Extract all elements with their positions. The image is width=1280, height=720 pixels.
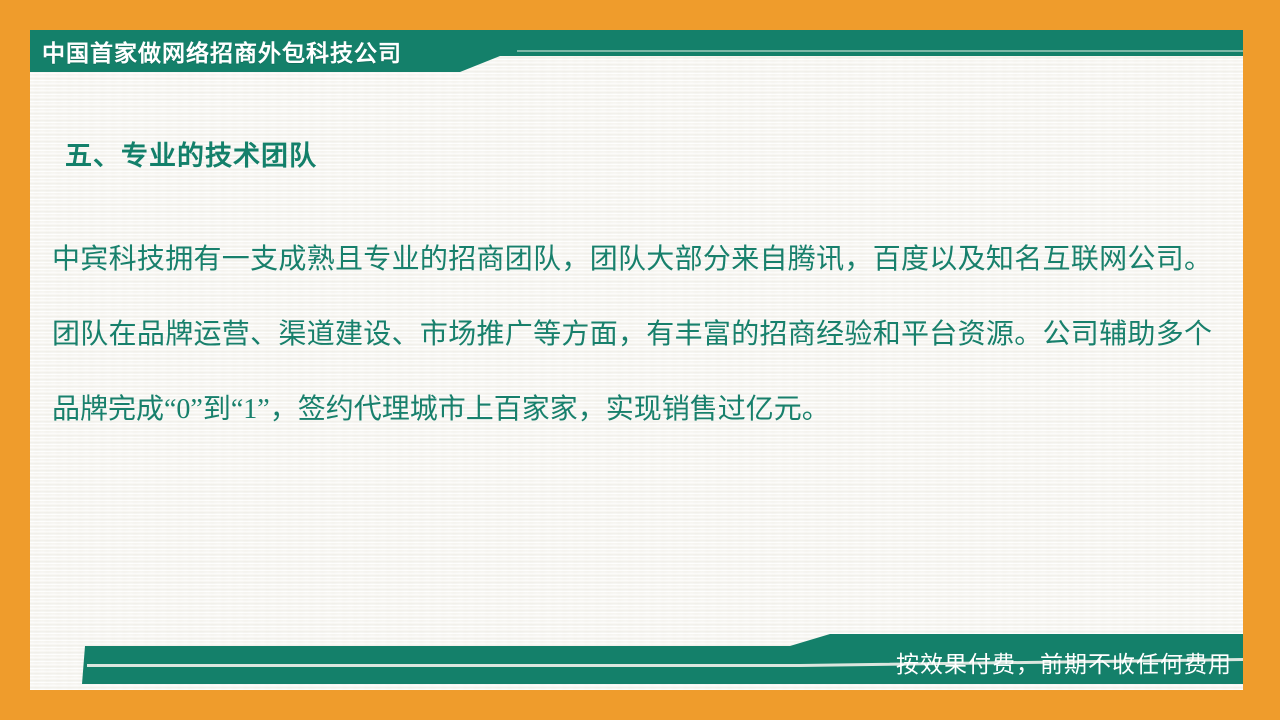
- slide-body: 五、专业的技术团队 中宾科技拥有一支成熟且专业的招商团队，团队大部分来自腾讯，百…: [30, 72, 1243, 632]
- presentation-slide: 中国首家做网络招商外包科技公司 五、专业的技术团队 中宾科技拥有一支成熟且专业的…: [0, 0, 1280, 720]
- body-text-block: 中宾科技拥有一支成熟且专业的招商团队，团队大部分来自腾讯，百度以及知名互联网公司…: [52, 222, 1212, 447]
- body-paragraph: 中宾科技拥有一支成熟且专业的招商团队，团队大部分来自腾讯，百度以及知名互联网公司…: [52, 222, 1212, 447]
- section-heading: 五、专业的技术团队: [65, 134, 317, 173]
- header-title: 中国首家做网络招商外包科技公司: [42, 30, 402, 72]
- footer-tagline: 按效果付费，前期不收任何费用: [896, 653, 1232, 676]
